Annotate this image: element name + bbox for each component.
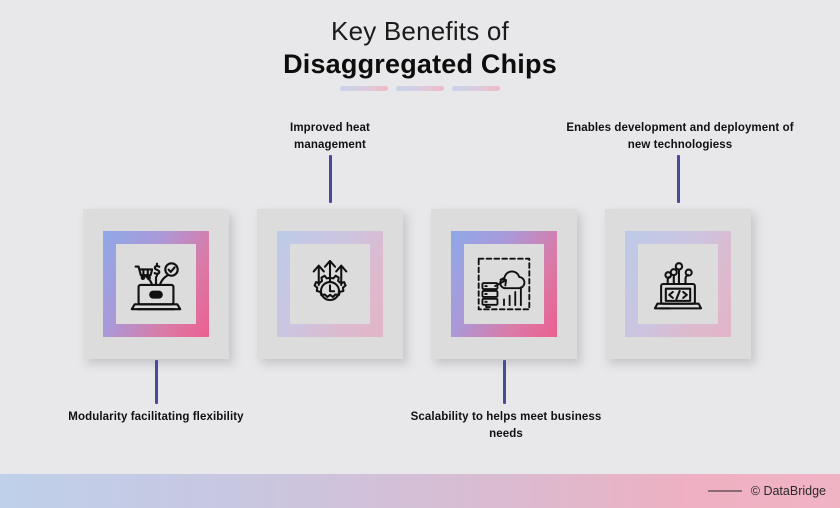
connector-line-3: [503, 360, 506, 404]
icon-frame-3: [451, 231, 557, 337]
footer-band: © DataBridge: [0, 474, 840, 508]
benefit-card-1[interactable]: [83, 209, 229, 359]
gear-clock-arrows-icon: [300, 253, 360, 315]
cloud-server-chart-icon: [474, 254, 534, 314]
credit-text: © DataBridge: [751, 484, 826, 498]
divider-segment-3: [452, 86, 500, 91]
laptop-code-circuit-icon: [648, 253, 708, 315]
connector-line-2: [329, 155, 332, 203]
title-line-1: Key Benefits of: [0, 16, 840, 46]
icon-frame-1: [103, 231, 209, 337]
benefit-card-3[interactable]: [431, 209, 577, 359]
benefit-card-4[interactable]: [605, 209, 751, 359]
laptop-ecommerce-icon: [125, 253, 187, 315]
benefit-label-4: Enables development and deployment of ne…: [560, 120, 800, 153]
connector-line-1: [155, 360, 158, 404]
title-line-2: Disaggregated Chips: [0, 48, 840, 80]
infographic-canvas: Key Benefits of Disaggregated Chips: [0, 0, 840, 508]
icon-frame-4: [625, 231, 731, 337]
credit-rule: [708, 490, 742, 492]
benefit-label-3: Scalability to helps meet business needs: [410, 409, 602, 442]
divider-segment-1: [340, 86, 388, 91]
icon-frame-2: [277, 231, 383, 337]
divider-segment-2: [396, 86, 444, 91]
title-divider: [0, 86, 840, 91]
benefit-card-2[interactable]: [257, 209, 403, 359]
connector-line-4: [677, 155, 680, 203]
benefit-label-2: Improved heat management: [253, 120, 407, 153]
page-title: Key Benefits of Disaggregated Chips: [0, 16, 840, 80]
credit: © DataBridge: [708, 484, 826, 498]
benefit-label-1: Modularity facilitating flexibility: [60, 409, 252, 426]
